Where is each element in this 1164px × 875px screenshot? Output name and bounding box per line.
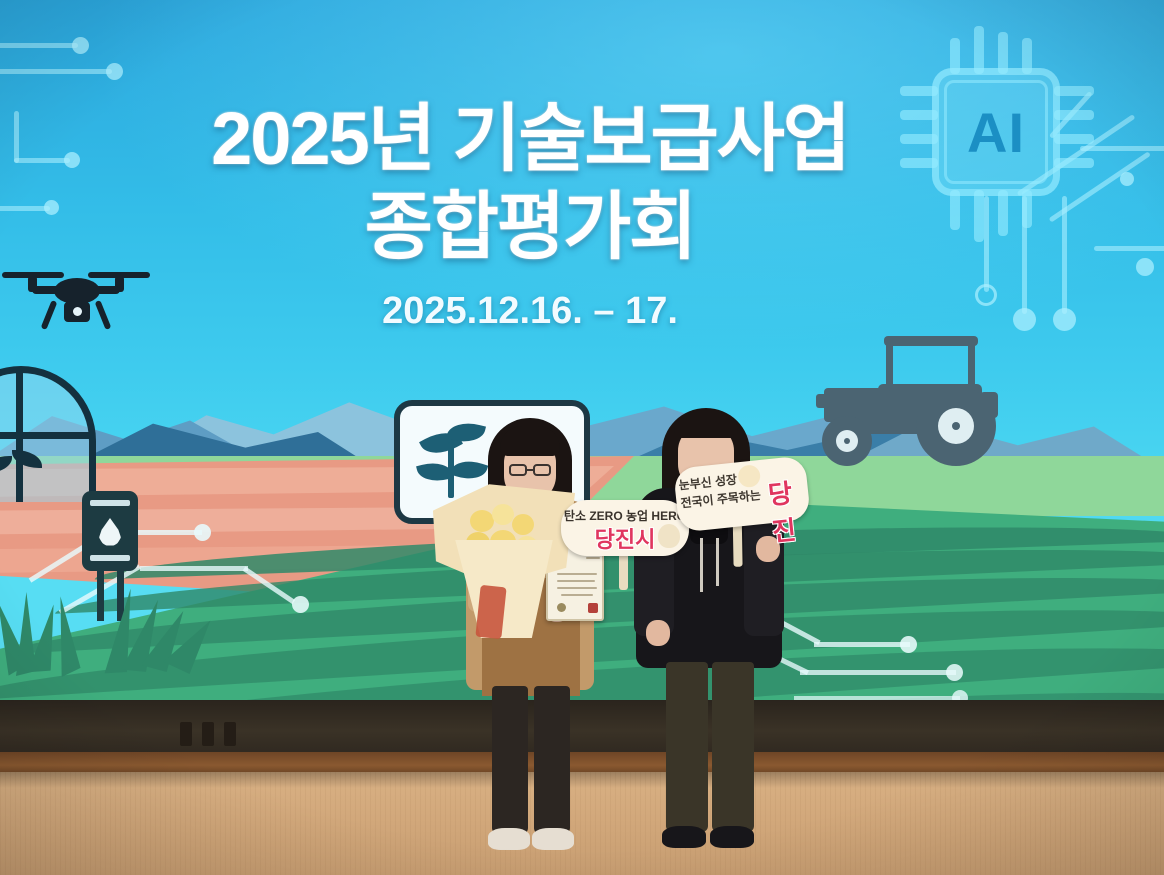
cheer-sign-left-line-2: 당진시 <box>561 522 689 554</box>
glasses-bridge <box>527 469 533 471</box>
greenhouse-plant-stem <box>18 462 23 496</box>
leg-left <box>666 662 708 832</box>
shoe-right <box>710 826 754 848</box>
hoodie-drawstring <box>700 538 703 592</box>
bangs <box>674 412 738 438</box>
tractor-hood <box>824 388 890 422</box>
tractor-rear-fender <box>980 392 998 418</box>
event-title-line-2: 종합평가회 <box>0 184 1060 270</box>
tractor-cab-post <box>886 344 893 388</box>
stage-award-photo: AI <box>0 0 1164 875</box>
cheer-sign-left-handle <box>619 552 628 590</box>
sensor-post-leg <box>117 567 124 621</box>
tractor-front-grill <box>816 394 830 408</box>
greenhouse-icon <box>0 366 96 502</box>
tractor-rear-axle <box>952 422 960 430</box>
leg-left <box>492 686 528 834</box>
leg-right <box>534 686 570 834</box>
greenhouse-mullion-h <box>0 432 90 439</box>
sensor-display-bar <box>90 500 130 506</box>
tractor-icon <box>812 330 1028 460</box>
certificate-red-seal <box>588 603 598 613</box>
bouquet-flower <box>492 504 514 525</box>
stage-equipment <box>180 722 192 746</box>
hand-left <box>646 620 670 646</box>
bouquet-flower <box>512 514 534 535</box>
glasses-lens <box>533 464 551 476</box>
hoodie-drawstring <box>716 538 719 586</box>
flower-bouquet <box>424 482 582 642</box>
tractor-roof <box>884 336 978 346</box>
bouquet-flower <box>470 510 494 532</box>
cheer-sign-right-handle <box>733 521 743 567</box>
sensor-post-leg <box>97 567 104 621</box>
event-title-line-1: 2025년 기술보급사업 <box>0 96 1060 182</box>
tractor-cab-post <box>968 344 975 388</box>
stage-equipment <box>224 722 236 746</box>
stage-equipment <box>202 722 214 746</box>
bouquet-ribbon <box>475 585 506 639</box>
sensor-display-bar <box>90 555 130 561</box>
glasses-lens <box>509 464 527 476</box>
event-title-block: 2025년 기술보급사업 종합평가회 2025.12.16. – 17. <box>0 96 1060 333</box>
tractor-front-axle <box>844 438 850 444</box>
certificate-text-line <box>586 557 600 559</box>
leg-right <box>712 662 754 832</box>
cheer-sign-left: 탄소 ZERO 농업 HERO 당진시 <box>561 500 689 556</box>
event-date-range: 2025.12.16. – 17. <box>0 290 1060 333</box>
shoe-left <box>488 828 530 850</box>
shoe-left <box>662 826 706 848</box>
cheer-sign-right-accent: 당진 <box>766 471 814 549</box>
bangs <box>500 426 560 456</box>
shoe-right <box>532 828 574 850</box>
cheer-sign-right: 눈부신 성장 전국이 주목하는 당진 <box>673 455 811 532</box>
